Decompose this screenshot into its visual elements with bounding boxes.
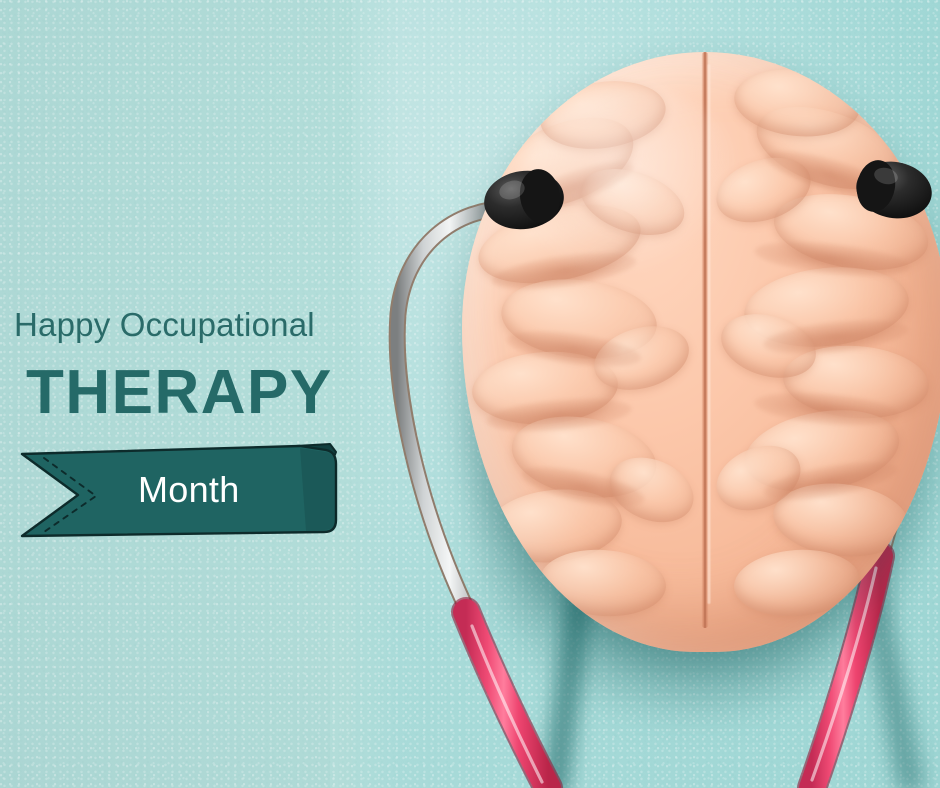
stethoscope-left-earpiece [480, 166, 567, 235]
headline-therapy: THERAPY [26, 362, 333, 424]
headline-happy-occupational: Happy Occupational [14, 306, 315, 344]
stethoscope-right-earpiece [852, 156, 937, 224]
poster-canvas: Happy Occupational THERAPY Month [0, 0, 940, 788]
ribbon-label-month: Month [138, 469, 240, 511]
